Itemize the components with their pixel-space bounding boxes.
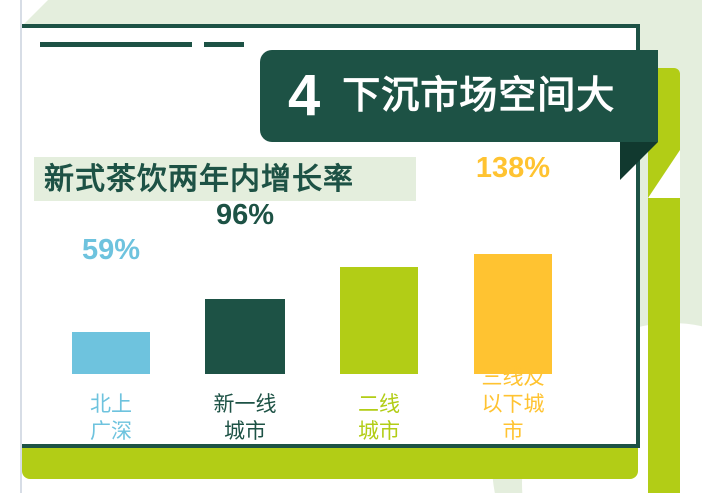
bar-column-1: 96% 新一线 城市	[205, 205, 285, 445]
decorative-rule-long	[40, 42, 192, 47]
bar-rect-3	[474, 254, 552, 374]
bar-column-2: 120% 二线 城市	[340, 205, 418, 445]
bar-rect-1	[205, 299, 285, 374]
bar-rect-0	[72, 332, 150, 374]
bar-rect-2	[340, 267, 418, 374]
bar-value-1: 96%	[205, 201, 285, 230]
bar-chart: 59% 北上 广深 96% 新一线 城市 120% 二线 城市 138% 三线及…	[22, 205, 638, 445]
section-title: 下沉市场空间大	[342, 77, 615, 115]
bar-column-3: 138% 三线及 以下城市	[474, 205, 552, 445]
infographic-slide: 4 下沉市场空间大 新式茶饮两年内增长率 59% 北上 广深 96% 新一线 城…	[0, 0, 702, 493]
bar-label-0: 北上 广深	[72, 391, 150, 445]
bar-value-3: 138%	[474, 154, 552, 183]
bar-label-1: 新一线 城市	[205, 391, 285, 445]
bar-label-2: 二线 城市	[340, 391, 418, 445]
bar-column-0: 59% 北上 广深	[72, 205, 150, 445]
chart-subtitle: 新式茶饮两年内增长率	[44, 160, 354, 200]
section-banner: 4 下沉市场空间大	[260, 50, 658, 142]
section-number: 4	[288, 67, 320, 125]
decorative-rule-short	[204, 42, 244, 47]
bar-value-0: 59%	[72, 236, 150, 265]
bar-label-3: 三线及 以下城市	[474, 364, 552, 445]
